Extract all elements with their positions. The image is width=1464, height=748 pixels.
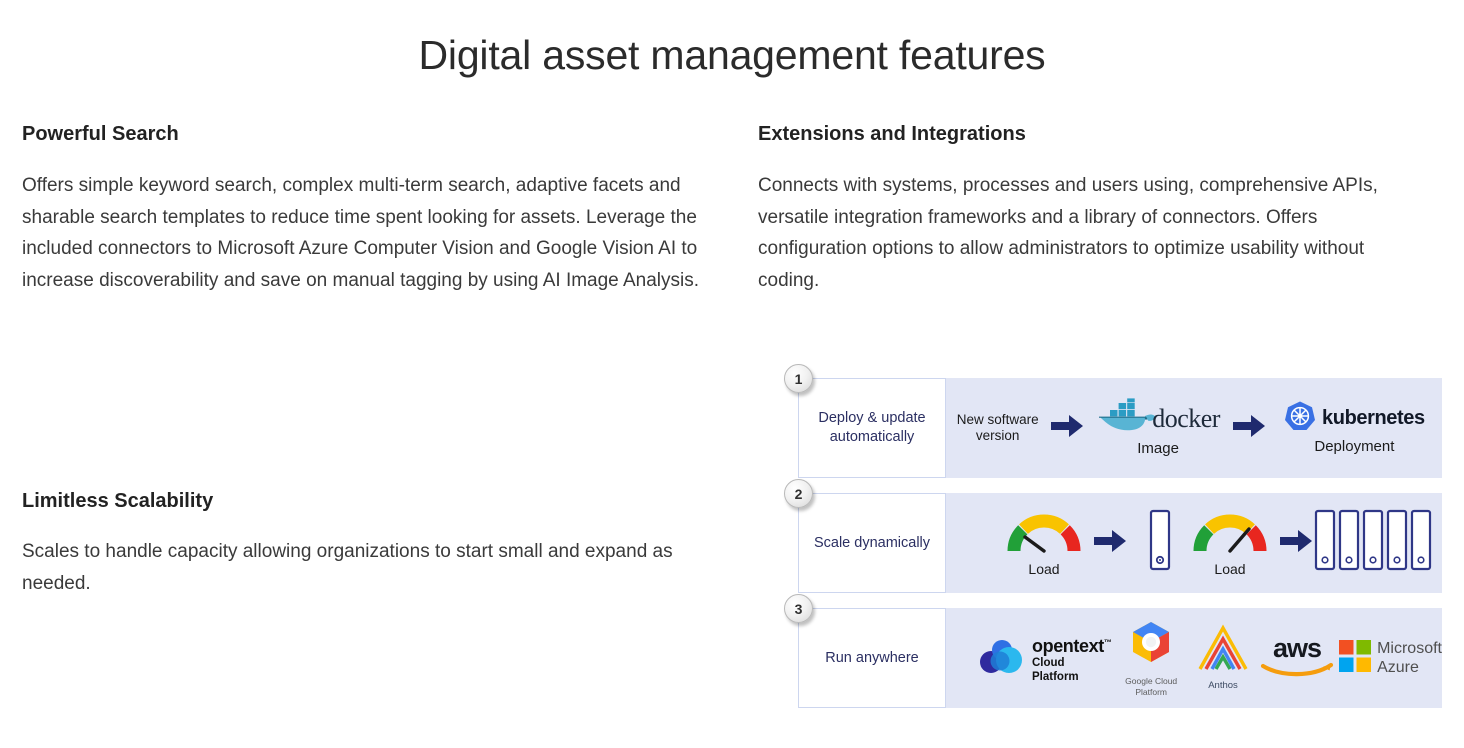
scalability-diagram: Deploy & update automatically 1 New soft… — [780, 371, 1442, 723]
row-badge-3: 3 — [784, 594, 813, 623]
arrow-right-icon-2 — [1231, 413, 1267, 444]
stage-gauge-low: Load — [1006, 509, 1082, 578]
stage-single-server — [1128, 509, 1192, 578]
microsoft-squares-icon — [1339, 640, 1371, 677]
microsoft-logo-row: Microsoft Azure — [1339, 639, 1442, 677]
microsoft-line-1: Microsoft — [1377, 639, 1442, 658]
stage-docker-image: docker Image — [1085, 398, 1230, 458]
gauge-high-icon — [1192, 509, 1268, 560]
kubernetes-logo-row: kubernetes — [1284, 400, 1425, 437]
feature-limitless-scalability: Limitless Scalability Scales to handle c… — [22, 487, 702, 599]
stage-anthos: Anthos — [1191, 624, 1255, 692]
feature-heading-extensions: Extensions and Integrations — [758, 120, 1430, 148]
feature-heading-scalability: Limitless Scalability — [22, 487, 702, 515]
arrow-right-icon-4 — [1278, 528, 1314, 559]
opentext-cloud-icon — [978, 636, 1026, 681]
diagram-row-scale: Scale dynamically 2 Load — [798, 493, 1442, 593]
opentext-trademark: ™ — [1104, 638, 1112, 647]
stage-gauge-high: Load — [1192, 509, 1268, 578]
feature-extensions-and-integrations: Extensions and Integrations Connects wit… — [758, 120, 1430, 296]
stage-microsoft-azure: Microsoft Azure — [1339, 639, 1442, 677]
docker-logo-row: docker — [1096, 398, 1220, 439]
microsoft-azure-wordmark: Microsoft Azure — [1377, 639, 1442, 677]
gauge-low-icon — [1006, 509, 1082, 560]
new-software-version-label: New software version — [946, 412, 1049, 445]
page-title: Digital asset management features — [0, 29, 1464, 81]
feature-powerful-search: Powerful Search Offers simple keyword se… — [22, 120, 734, 296]
arrow-right-icon — [1049, 413, 1085, 444]
google-cloud-caption: Google Cloud Platform — [1111, 676, 1190, 698]
opentext-wordmark: opentext™ — [1032, 633, 1111, 656]
row-badge-1: 1 — [784, 364, 813, 393]
stage-new-software-version: New software version — [946, 412, 1049, 445]
row-label-run-anywhere: Run anywhere — [798, 608, 946, 708]
diagram-row-run-anywhere: Run anywhere 3 opentext™ Cloud — [798, 608, 1442, 708]
feature-body-extensions: Connects with systems, processes and use… — [758, 170, 1430, 296]
row-badge-2: 2 — [784, 479, 813, 508]
arrow-right-icon-3 — [1092, 528, 1128, 559]
row-label-scale: Scale dynamically — [798, 493, 946, 593]
server-icon — [1147, 509, 1173, 578]
opentext-logo-row: opentext™ Cloud Platform — [978, 633, 1111, 684]
stage-kubernetes-deployment: kubernetes Deployment — [1267, 400, 1442, 456]
row-content-deploy: New software version — [946, 378, 1442, 478]
anthos-icon — [1194, 624, 1252, 679]
aws-logo-icon: aws — [1255, 633, 1339, 684]
row-content-scale: Load — [946, 493, 1442, 593]
google-cloud-icon — [1125, 619, 1177, 674]
kubernetes-deployment-caption: Deployment — [1314, 438, 1394, 456]
stage-server-cluster — [1314, 509, 1442, 578]
anthos-caption: Anthos — [1208, 680, 1238, 692]
feature-body-scalability: Scales to handle capacity allowing organ… — [22, 536, 702, 599]
opentext-subtitle: Cloud Platform — [1032, 656, 1111, 684]
docker-wordmark: docker — [1152, 404, 1220, 434]
diagram-row-deploy: Deploy & update automatically 1 New soft… — [798, 378, 1442, 478]
gauge-low-caption: Load — [1028, 561, 1059, 578]
microsoft-line-2: Azure — [1377, 658, 1442, 677]
kubernetes-icon — [1284, 400, 1316, 437]
gauge-high-caption: Load — [1214, 561, 1245, 578]
feature-body-powerful-search: Offers simple keyword search, complex mu… — [22, 170, 734, 296]
docker-image-caption: Image — [1137, 440, 1179, 458]
stage-opentext-cloud: opentext™ Cloud Platform — [978, 633, 1111, 684]
row-label-deploy: Deploy & update automatically — [798, 378, 946, 478]
svg-text:aws: aws — [1273, 633, 1321, 663]
row-content-run-anywhere: opentext™ Cloud Platform Google Cloud Pl — [946, 608, 1442, 708]
kubernetes-wordmark: kubernetes — [1322, 407, 1425, 430]
feature-heading-powerful-search: Powerful Search — [22, 120, 734, 148]
server-cluster-icon — [1314, 509, 1442, 578]
docker-whale-icon — [1096, 398, 1158, 439]
stage-google-cloud-platform: Google Cloud Platform — [1111, 619, 1190, 698]
stage-aws: aws — [1255, 633, 1339, 684]
